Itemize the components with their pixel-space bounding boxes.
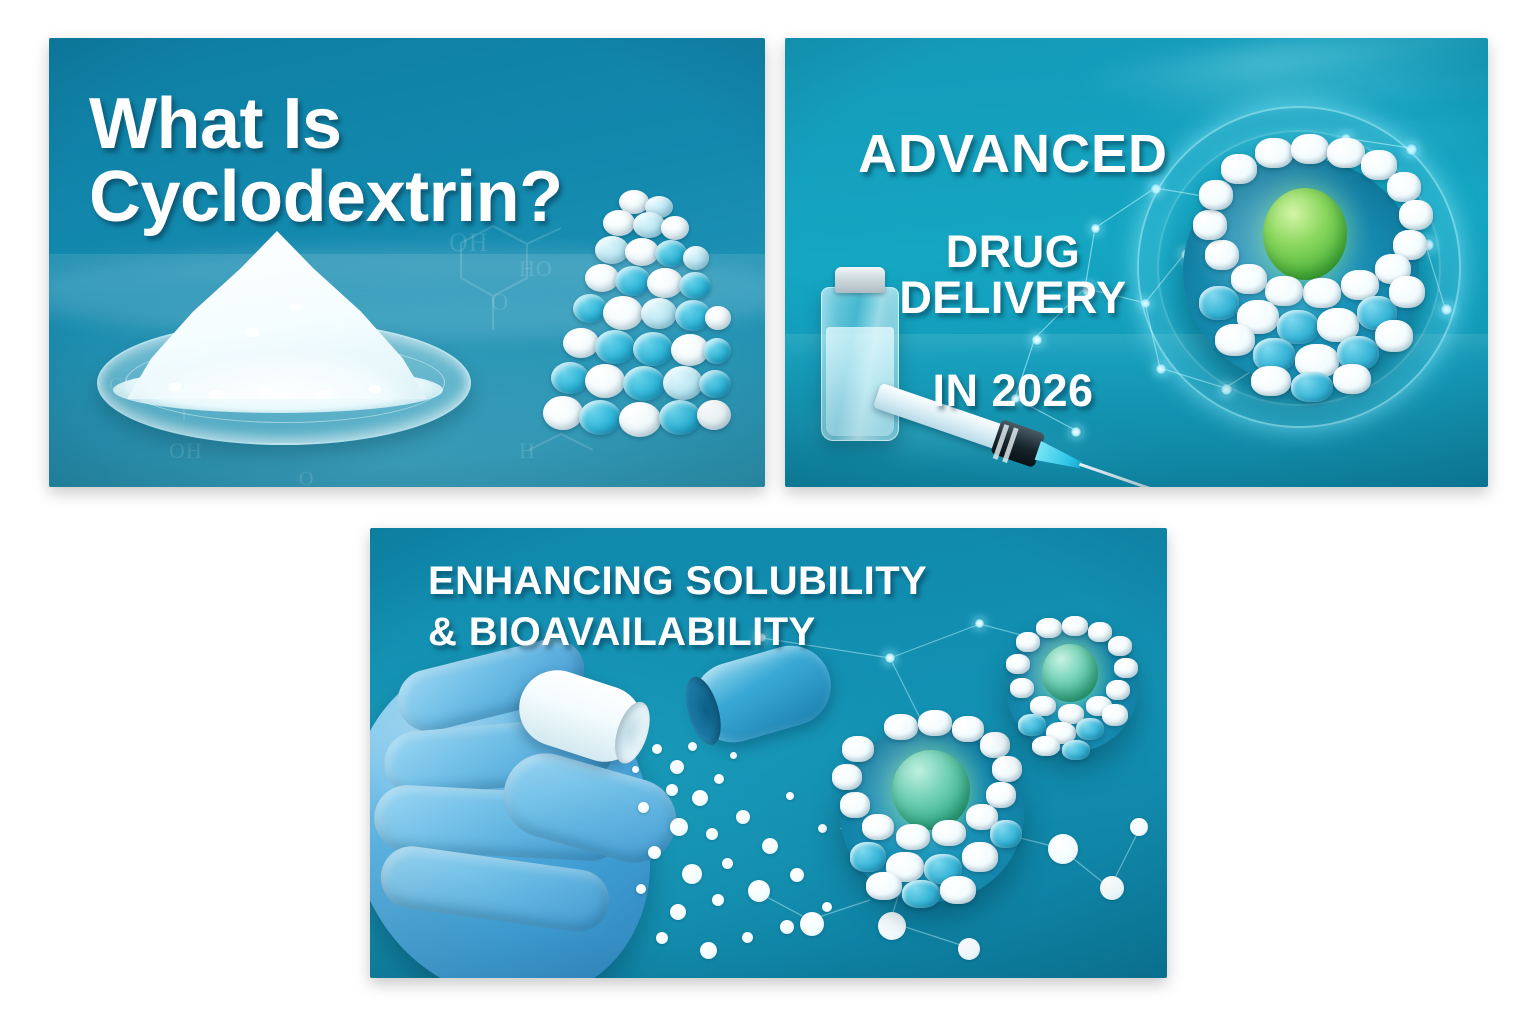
glucose-unit	[1199, 180, 1233, 210]
network-node	[958, 938, 980, 960]
network-node	[1100, 876, 1124, 900]
panel-2-title-line-2: DRUG DELIVERY	[843, 229, 1183, 321]
powder-particle	[656, 932, 668, 944]
powder-particle	[692, 790, 708, 806]
powder-particle	[636, 884, 646, 894]
network-node	[800, 912, 824, 936]
powder-particle	[714, 774, 724, 784]
powder-particle	[712, 894, 724, 906]
glucose-unit	[1205, 240, 1239, 270]
panel-2-title: ADVANCED DRUG DELIVERY IN 2026	[843, 80, 1183, 460]
powder-particle	[666, 784, 678, 796]
network-node	[974, 618, 985, 629]
glucose-unit	[1265, 276, 1303, 306]
panel-3-title: ENHANCING SOLUBILITY & BIOAVAILABILITY	[428, 556, 927, 658]
powder-particle	[632, 766, 639, 773]
glucose-unit	[1193, 210, 1227, 240]
powder-particle	[786, 792, 794, 800]
powder-particle	[742, 932, 753, 943]
powder-particle	[638, 802, 649, 813]
panel-advanced-drug-delivery[interactable]: ADVANCED DRUG DELIVERY IN 2026	[785, 38, 1488, 487]
panel-enhancing-solubility-bioavailability[interactable]: ENHANCING SOLUBILITY & BIOAVAILABILITY	[370, 528, 1167, 978]
glucose-unit	[1291, 134, 1329, 164]
glucose-unit	[1303, 278, 1341, 308]
powder-particle	[790, 868, 804, 882]
powder-particle	[822, 902, 832, 912]
powder-particle	[818, 824, 827, 833]
powder-particle	[706, 828, 718, 840]
guest-molecule-small	[1042, 644, 1098, 702]
network-node	[1130, 818, 1148, 836]
glucose-unit	[1221, 154, 1257, 184]
powder-particle	[682, 864, 702, 884]
powder-particle	[762, 838, 778, 854]
powder-particle	[736, 810, 750, 824]
panel-2-title-line-1: ADVANCED	[843, 127, 1183, 182]
glucose-unit	[1387, 172, 1421, 202]
glucose-unit	[1399, 200, 1433, 230]
collage-board: OH HO O CH2OH OH H O	[0, 0, 1536, 1024]
powder-particle	[700, 942, 717, 959]
powder-particle	[648, 846, 661, 859]
powder-particle	[670, 760, 684, 774]
glucose-unit	[1231, 264, 1267, 294]
powder-particle	[652, 744, 662, 754]
powder-particle	[780, 920, 794, 934]
guest-molecule-large	[892, 750, 970, 830]
network-node	[878, 912, 906, 940]
powder-particle	[748, 880, 770, 902]
powder-particle	[730, 752, 737, 759]
glucose-unit	[1255, 138, 1293, 168]
network-node	[1048, 834, 1078, 864]
powder-particle	[722, 858, 733, 869]
powder-particle	[670, 818, 688, 836]
glucose-unit	[1327, 138, 1365, 168]
panel-what-is-cyclodextrin[interactable]: OH HO O CH2OH OH H O	[49, 38, 765, 487]
panel-1-title: What Is Cyclodextrin?	[89, 88, 563, 235]
green-guest-drug-sphere	[1263, 188, 1347, 280]
powder-particle	[670, 904, 686, 920]
stacked-pill-cone	[541, 188, 731, 453]
powder-particle	[688, 742, 697, 751]
panel-2-title-line-3: IN 2026	[843, 368, 1183, 414]
